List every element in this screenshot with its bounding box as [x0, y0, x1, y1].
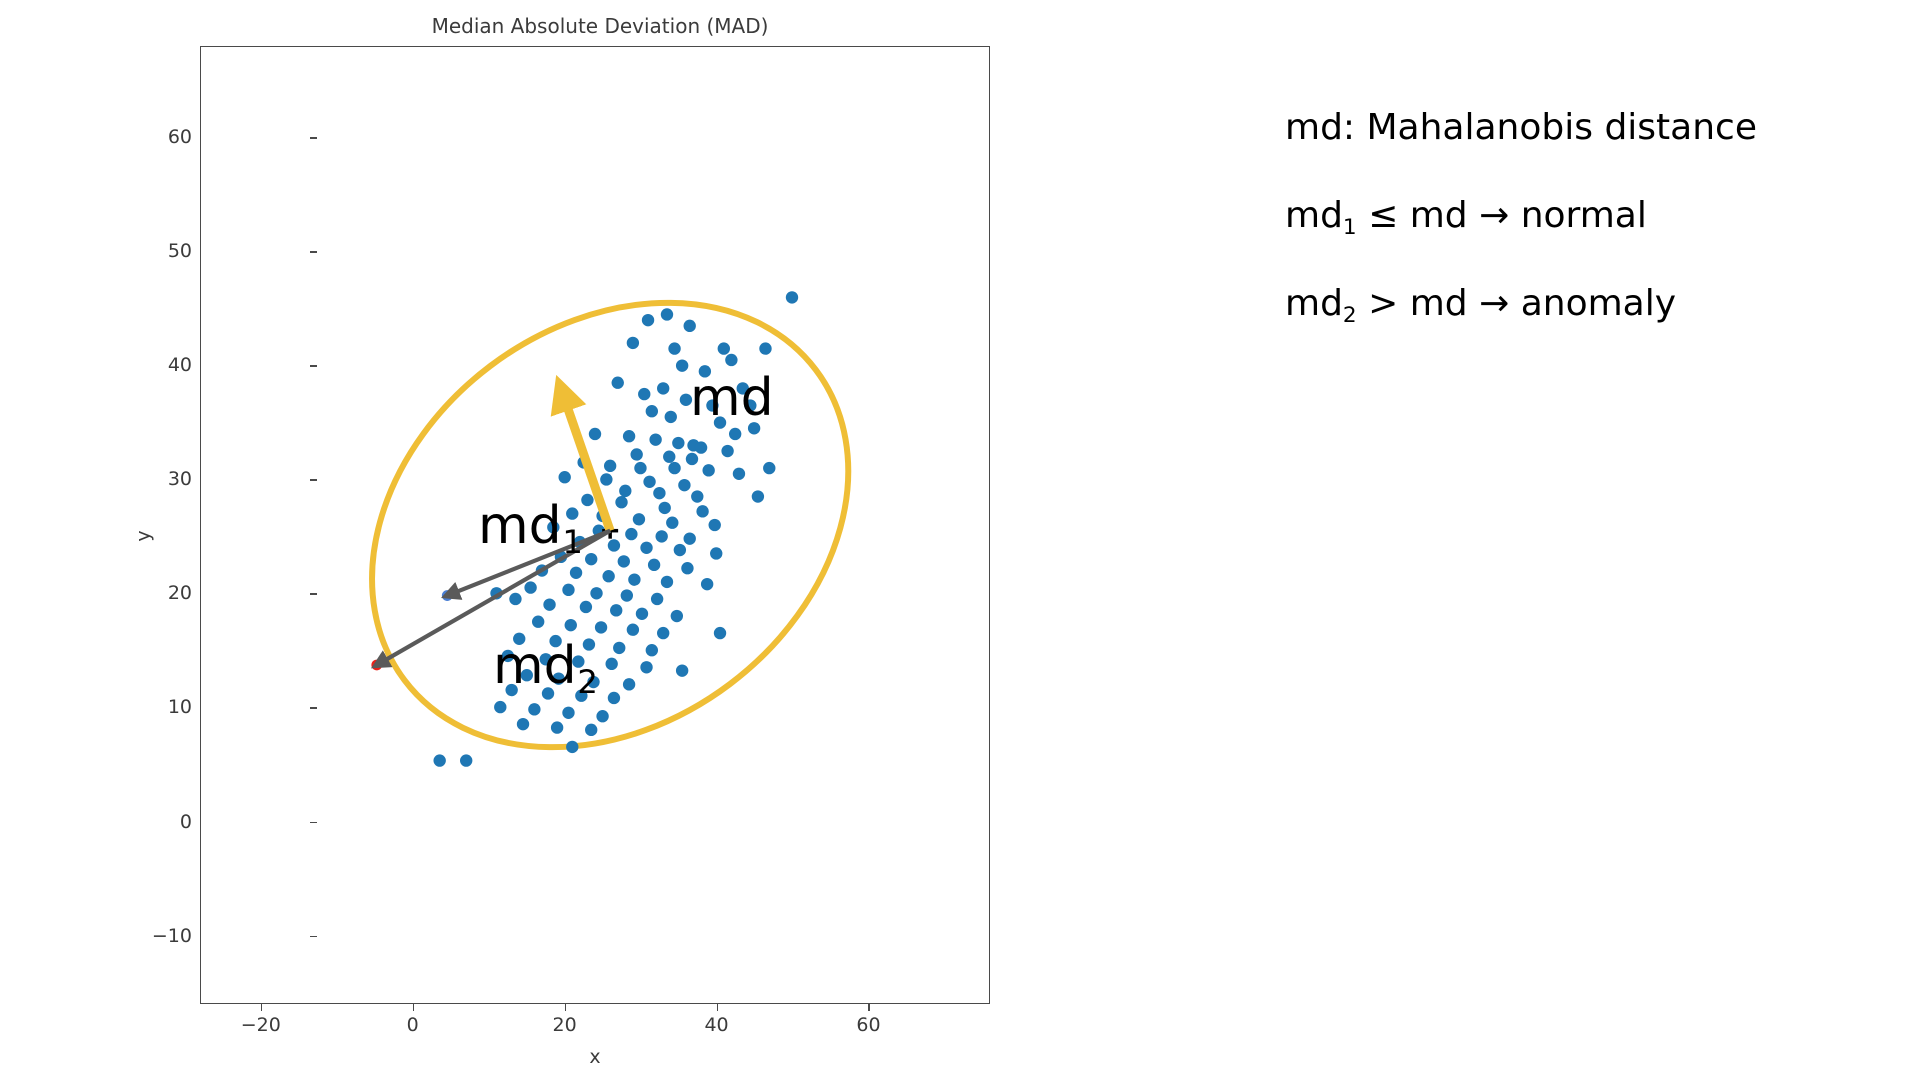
x-tick-mark	[868, 1004, 869, 1011]
annotation-md: md	[690, 372, 774, 424]
scatter-point	[585, 553, 597, 565]
scatter-point	[718, 342, 730, 354]
y-tick-mark	[310, 593, 317, 594]
y-axis-label: y	[133, 530, 155, 541]
scatter-point	[433, 754, 445, 766]
scatter-point	[581, 494, 593, 506]
scatter-point	[566, 741, 578, 753]
scatter-point	[725, 354, 737, 366]
legend-text: md	[1285, 283, 1343, 324]
legend-text: md	[1285, 195, 1343, 236]
scatter-point	[661, 576, 673, 588]
scatter-point	[651, 593, 663, 605]
scatter-point	[663, 451, 675, 463]
scatter-point	[659, 502, 671, 514]
legend-line-normal-rule: md1 ≤ md → normal	[1285, 198, 1905, 234]
scatter-point	[642, 314, 654, 326]
x-axis-label: x	[200, 1046, 990, 1068]
y-tick-label: 40	[122, 354, 192, 376]
x-tick-label: 60	[856, 1014, 880, 1036]
scatter-point	[589, 428, 601, 440]
scatter-point	[695, 441, 707, 453]
scatter-point	[684, 320, 696, 332]
x-axis-ticks: −200204060	[200, 1004, 990, 1044]
scatter-point	[602, 570, 614, 582]
scatter-point	[701, 578, 713, 590]
annotation-base-text: md	[690, 368, 774, 428]
x-tick-label: −20	[241, 1014, 281, 1036]
scatter-point	[608, 692, 620, 704]
scatter-point	[627, 337, 639, 349]
scatter-point	[528, 703, 540, 715]
x-tick-label: 40	[704, 1014, 728, 1036]
scatter-point	[721, 445, 733, 457]
scatter-point	[610, 604, 622, 616]
x-tick-mark	[565, 1004, 566, 1011]
y-tick-label: −10	[122, 925, 192, 947]
scatter-point	[640, 542, 652, 554]
scatter-point	[600, 473, 612, 485]
scatter-point	[665, 411, 677, 423]
scatter-point	[646, 405, 658, 417]
explanation-panel: md: Mahalanobis distancemd1 ≤ md → norma…	[1285, 110, 1905, 374]
scatter-point	[676, 664, 688, 676]
scatter-point	[686, 453, 698, 465]
scatter-point	[763, 462, 775, 474]
annotation-md1: md1	[478, 500, 582, 552]
annotation-subscript: 2	[577, 663, 598, 701]
scatter-point	[681, 562, 693, 574]
scatter-point	[619, 485, 631, 497]
y-tick-mark	[310, 822, 317, 823]
scatter-point	[638, 388, 650, 400]
legend-line-definition: md: Mahalanobis distance	[1285, 110, 1905, 146]
y-tick-mark	[310, 365, 317, 366]
legend-text-tail: > md → anomaly	[1357, 283, 1676, 324]
scatter-point	[615, 496, 627, 508]
scatter-point	[657, 627, 669, 639]
scatter-point	[672, 437, 684, 449]
legend-text-tail: ≤ md → normal	[1357, 195, 1647, 236]
scatter-point	[570, 567, 582, 579]
scatter-point	[655, 530, 667, 542]
scatter-point	[671, 610, 683, 622]
y-tick-mark	[310, 137, 317, 138]
scatter-point	[562, 584, 574, 596]
y-tick-mark	[310, 251, 317, 252]
scatter-point	[517, 718, 529, 730]
scatter-point	[648, 559, 660, 571]
scatter-point	[509, 593, 521, 605]
legend-line-anomaly-rule: md2 > md → anomaly	[1285, 286, 1905, 322]
legend-text: md: Mahalanobis distance	[1285, 107, 1757, 148]
annotation-md2: md2	[493, 640, 597, 692]
scatter-point	[565, 619, 577, 631]
y-tick-label: 20	[122, 582, 192, 604]
annotation-subscript: 1	[562, 523, 583, 561]
y-tick-mark	[310, 479, 317, 480]
scatter-point	[668, 342, 680, 354]
scatter-point	[623, 678, 635, 690]
scatter-point	[543, 598, 555, 610]
x-tick-label: 20	[553, 1014, 577, 1036]
scatter-point	[460, 754, 472, 766]
scatter-point	[551, 721, 563, 733]
scatter-point	[585, 724, 597, 736]
plot-axes-frame	[200, 46, 990, 1004]
scatter-point	[786, 291, 798, 303]
scatter-point	[580, 601, 592, 613]
scatter-point	[559, 471, 571, 483]
scatter-point	[613, 642, 625, 654]
scatter-point	[661, 308, 673, 320]
chart-title: Median Absolute Deviation (MAD)	[200, 14, 1000, 38]
scatter-point	[494, 701, 506, 713]
scatter-point	[627, 624, 639, 636]
scatter-point	[674, 544, 686, 556]
scatter-point	[691, 490, 703, 502]
scatter-point	[612, 377, 624, 389]
scatter-point	[666, 517, 678, 529]
scatter-point	[640, 661, 652, 673]
y-tick-mark	[310, 936, 317, 937]
scatter-point	[634, 462, 646, 474]
scatter-point	[636, 608, 648, 620]
annotation-base-text: md	[493, 636, 577, 696]
legend-subscript: 1	[1343, 215, 1357, 240]
figure-canvas: Median Absolute Deviation (MAD) −1001020…	[0, 0, 1920, 1080]
y-tick-label: 10	[122, 696, 192, 718]
x-tick-mark	[413, 1004, 414, 1011]
scatter-point	[676, 359, 688, 371]
legend-subscript: 2	[1343, 303, 1357, 328]
scatter-point	[623, 430, 635, 442]
scatter-point	[625, 528, 637, 540]
scatter-point	[595, 621, 607, 633]
scatter-point	[710, 547, 722, 559]
scatter-point	[562, 707, 574, 719]
y-tick-label: 30	[122, 468, 192, 490]
scatter-point	[709, 519, 721, 531]
scatter-point	[733, 468, 745, 480]
scatter-point	[590, 587, 602, 599]
y-tick-label: 60	[122, 126, 192, 148]
x-tick-label: 0	[407, 1014, 419, 1036]
scatter-point	[678, 479, 690, 491]
scatter-plot-svg	[201, 47, 989, 1003]
y-tick-mark	[310, 707, 317, 708]
scatter-point	[696, 505, 708, 517]
annotation-base-text: md	[478, 496, 562, 556]
scatter-point	[714, 627, 726, 639]
scatter-point	[729, 428, 741, 440]
scatter-point	[759, 342, 771, 354]
scatter-point	[684, 532, 696, 544]
scatter-point	[646, 644, 658, 656]
scatter-point	[643, 476, 655, 488]
scatter-point	[653, 487, 665, 499]
y-tick-label: 0	[122, 811, 192, 833]
scatter-point	[630, 448, 642, 460]
scatter-point	[657, 382, 669, 394]
y-axis-ticks: −100102030405060	[118, 46, 192, 1004]
scatter-point	[608, 539, 620, 551]
scatter-point	[633, 513, 645, 525]
scatter-point	[604, 460, 616, 472]
scatter-point	[649, 433, 661, 445]
scatter-point	[621, 589, 633, 601]
y-tick-label: 50	[122, 240, 192, 262]
scatter-point	[628, 573, 640, 585]
scatter-point	[618, 555, 630, 567]
scatter-point	[668, 462, 680, 474]
x-tick-mark	[717, 1004, 718, 1011]
scatter-point	[596, 710, 608, 722]
scatter-point	[532, 616, 544, 628]
scatter-point	[605, 658, 617, 670]
scatter-point	[702, 464, 714, 476]
x-tick-mark	[261, 1004, 262, 1011]
scatter-point	[752, 490, 764, 502]
scatter-point	[524, 581, 536, 593]
